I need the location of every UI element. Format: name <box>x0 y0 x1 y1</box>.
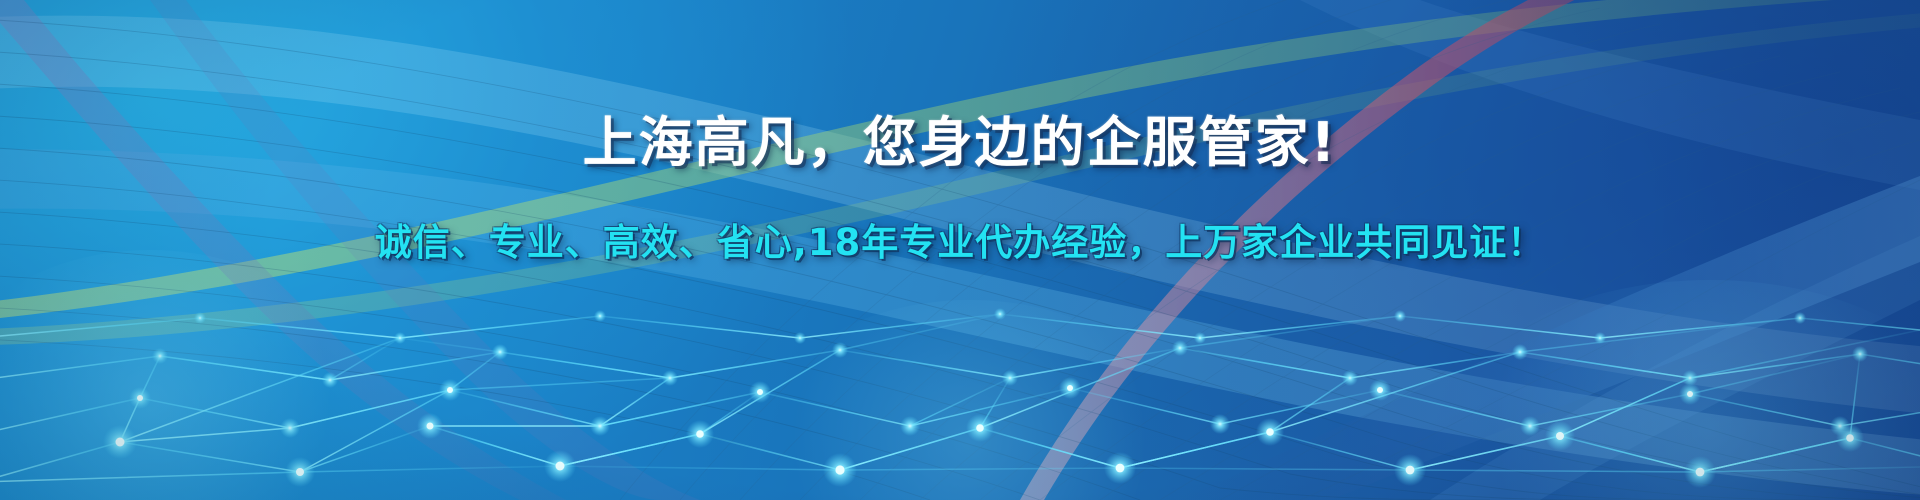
banner-subline: 诚信、专业、高效、省心,18年专业代办经验，上万家企业共同见证！ <box>375 221 1546 265</box>
banner-headline: 上海高凡，您身边的企服管家! <box>583 112 1338 175</box>
promo-banner: 上海高凡，您身边的企服管家! 诚信、专业、高效、省心,18年专业代办经验，上万家… <box>0 0 1920 500</box>
banner-text-block: 上海高凡，您身边的企服管家! 诚信、专业、高效、省心,18年专业代办经验，上万家… <box>0 0 1920 500</box>
